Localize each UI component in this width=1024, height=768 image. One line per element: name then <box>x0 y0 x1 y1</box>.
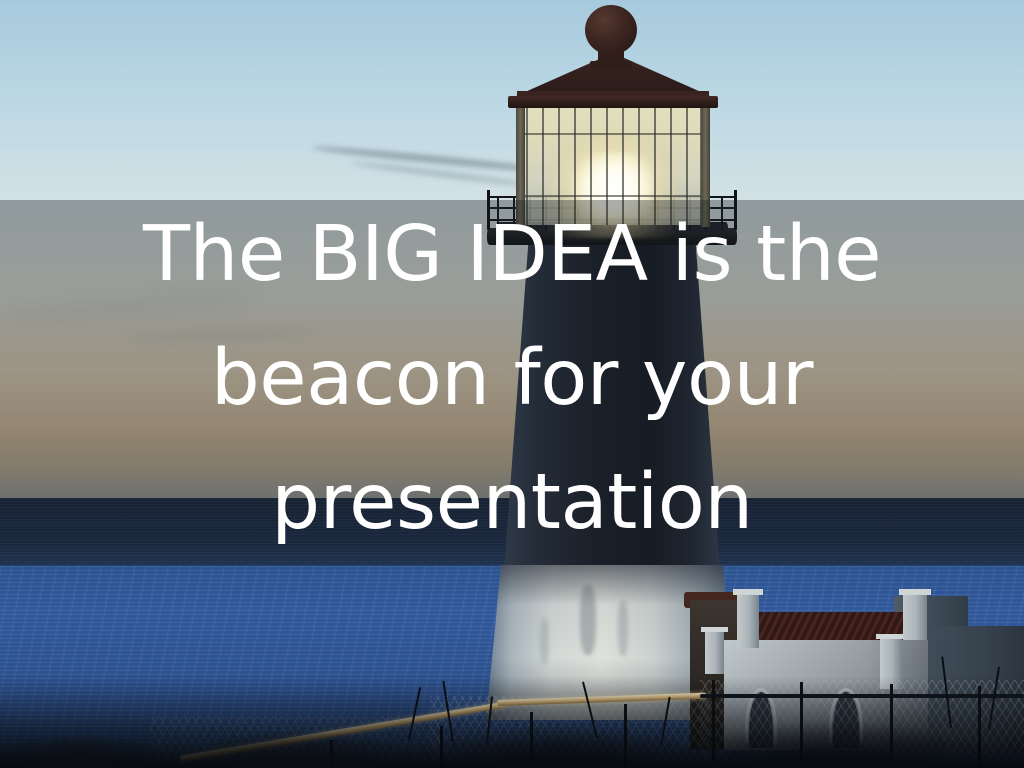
chimney-cap <box>701 627 728 632</box>
tower-grime-streak <box>580 585 596 655</box>
headline-line-2: beacon for your <box>211 317 813 441</box>
headline-line-3: presentation <box>271 441 752 565</box>
chimney-cap <box>733 589 763 595</box>
chimney-cap <box>899 589 931 595</box>
chimney <box>737 592 759 648</box>
tower-grime-streak <box>618 600 628 656</box>
slide-headline: The BIG IDEA is the beacon for your pres… <box>0 200 1024 565</box>
foreground-vegetation <box>0 676 1024 768</box>
chimney <box>903 592 927 640</box>
lantern-roof-eave <box>508 96 718 108</box>
presentation-slide: The BIG IDEA is the beacon for your pres… <box>0 0 1024 768</box>
headline-line-1: The BIG IDEA is the <box>143 193 881 317</box>
ventilator-ball <box>585 5 637 55</box>
chimney-cap <box>876 634 906 639</box>
tower-grime-streak <box>540 618 549 664</box>
ventilator-collar <box>590 61 632 69</box>
